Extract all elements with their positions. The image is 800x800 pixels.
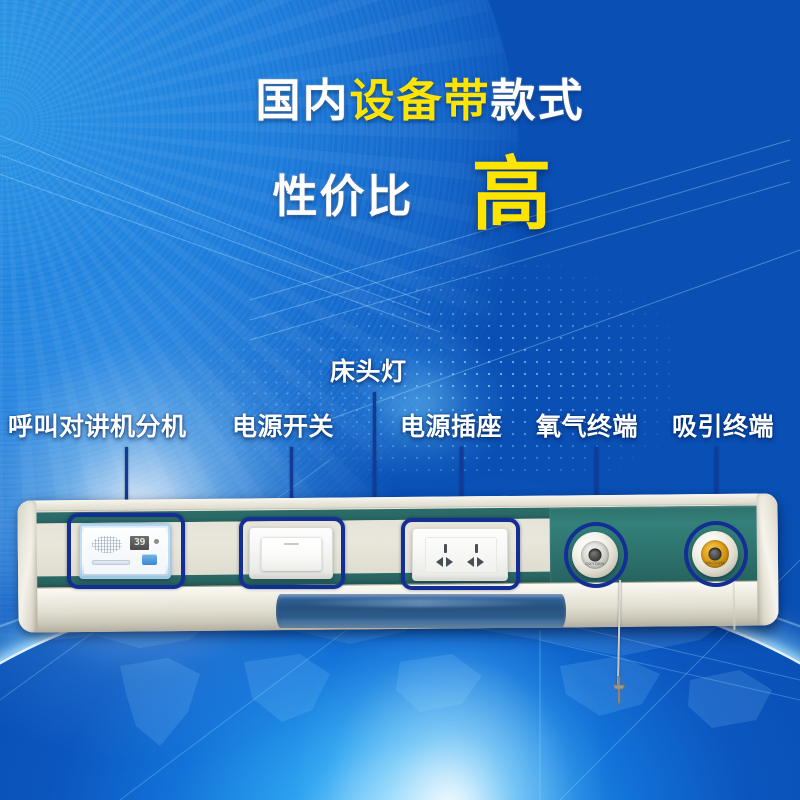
callout-label-power-socket: 电源插座 bbox=[400, 415, 502, 440]
suction-terminal-text: VACUUM bbox=[701, 560, 729, 565]
status-led-icon bbox=[154, 539, 159, 544]
callout-label-group: 呼叫对讲机分机 电源开关 床头灯 电源插座 氧气终端 吸引终端 bbox=[0, 0, 800, 800]
callout-label-intercom: 呼叫对讲机分机 bbox=[8, 415, 187, 440]
callout-label-oxygen-outlet: 氧气终端 bbox=[536, 415, 638, 440]
panel-end-cap-left bbox=[17, 499, 37, 632]
socket-slot-icon bbox=[436, 557, 443, 567]
intercom-slider-bar[interactable] bbox=[92, 560, 130, 565]
socket-slot-icon bbox=[475, 544, 478, 553]
socket-slot-icon bbox=[446, 557, 453, 567]
callout-label-power-switch: 电源开关 bbox=[232, 415, 334, 440]
socket-slot-icon bbox=[444, 544, 447, 553]
rocker-switch-icon[interactable] bbox=[261, 537, 322, 571]
intercom-faceplate: 39 bbox=[84, 528, 166, 574]
oxygen-terminal-unit[interactable]: OXYGEN bbox=[572, 532, 618, 578]
banner-stage: 国内设备带款式 性价比 高 呼叫对讲机分机 电源开关 床头灯 电源插座 氧气终端… bbox=[0, 0, 800, 800]
socket-slot-icon bbox=[467, 557, 474, 567]
oxygen-terminal-text: OXYGEN bbox=[581, 561, 609, 566]
oxygen-terminal-face: OXYGEN bbox=[581, 541, 609, 569]
callout-label-suction-outlet: 吸引终端 bbox=[672, 415, 774, 440]
suction-terminal-unit[interactable]: VACUUM bbox=[692, 531, 738, 577]
nurse-call-intercom-unit[interactable]: 39 bbox=[79, 523, 171, 579]
suction-port-icon bbox=[709, 548, 722, 561]
intercom-display: 39 bbox=[130, 536, 149, 550]
speaker-grille-icon bbox=[92, 536, 122, 553]
intercom-call-button[interactable] bbox=[142, 554, 157, 565]
panel-end-cap-right bbox=[756, 493, 778, 626]
hanging-plug-icon bbox=[606, 676, 632, 706]
callout-label-bed-lamp: 床头灯 bbox=[330, 360, 407, 385]
bed-lamp-diffuser[interactable] bbox=[276, 594, 566, 628]
power-switch-unit[interactable] bbox=[249, 527, 333, 579]
suction-terminal-face: VACUUM bbox=[701, 540, 729, 568]
socket-slot-icon bbox=[477, 557, 484, 567]
socket-faceplate bbox=[425, 537, 497, 573]
oxygen-port-icon bbox=[589, 549, 602, 562]
power-socket-unit[interactable] bbox=[412, 528, 508, 581]
